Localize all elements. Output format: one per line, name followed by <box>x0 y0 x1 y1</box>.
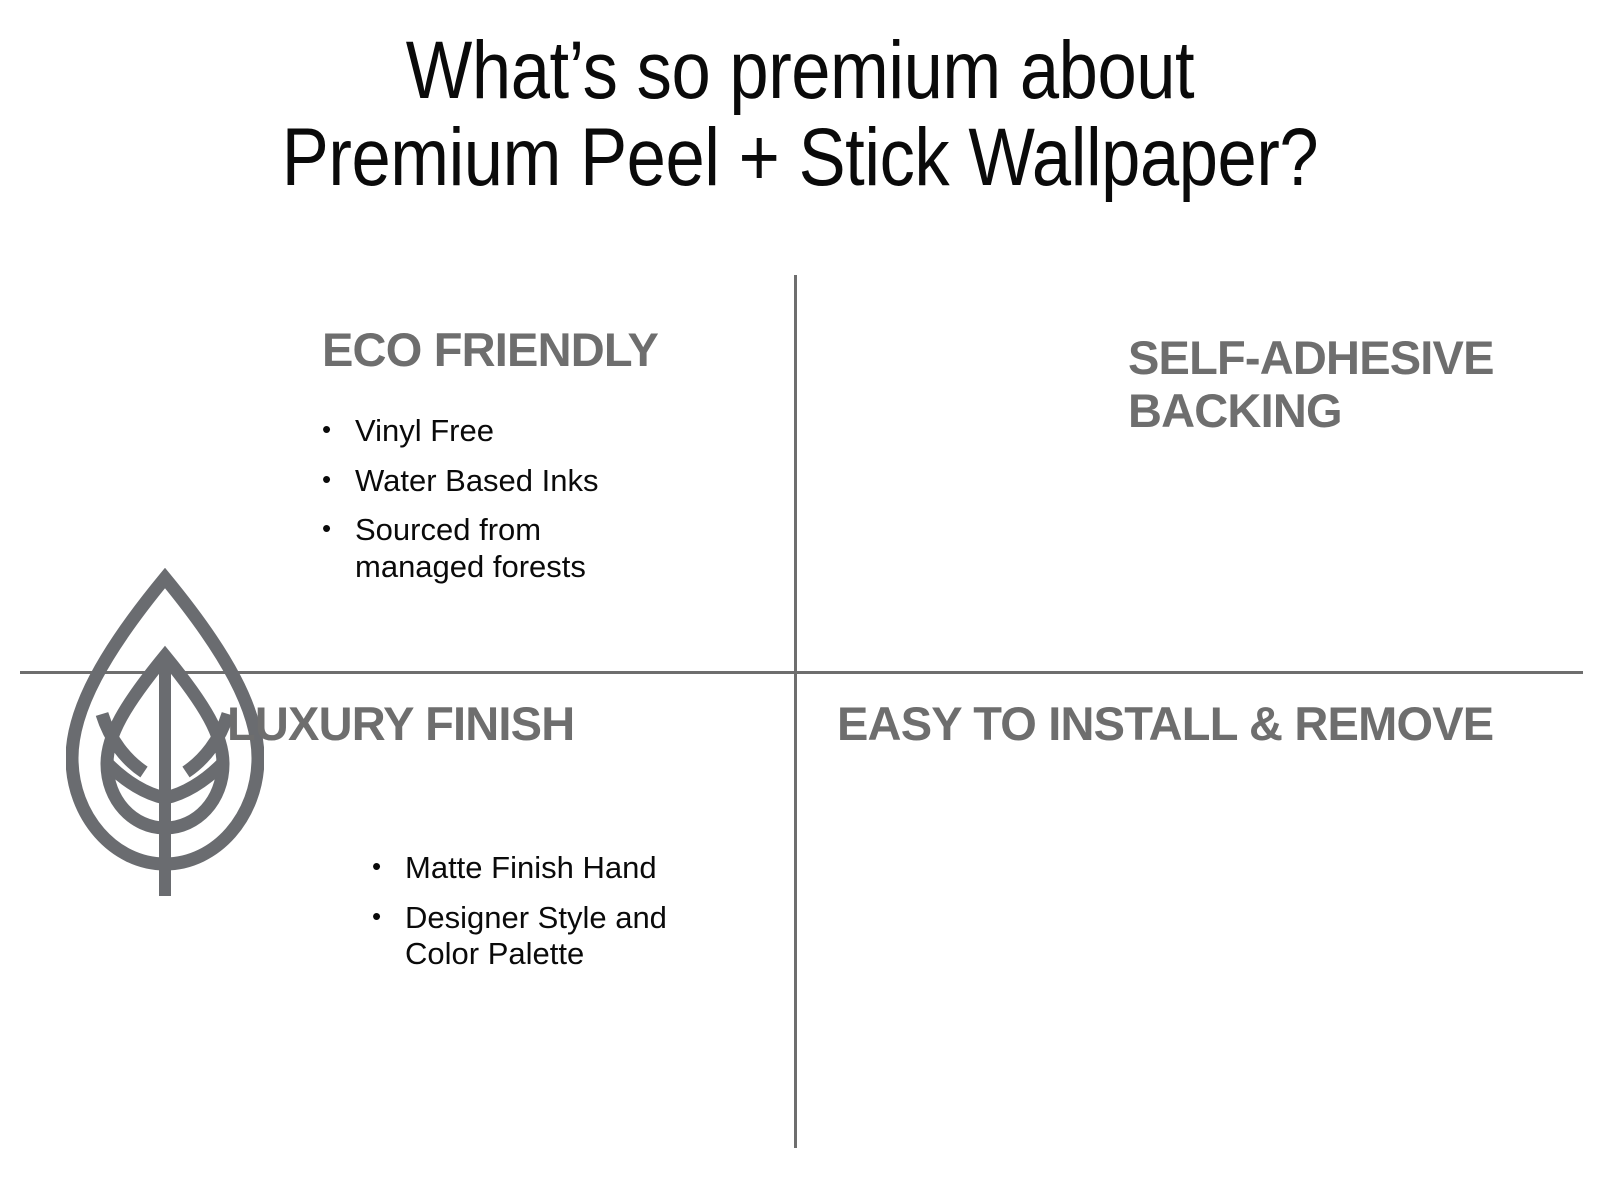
infographic-canvas: What’s so premium about Premium Peel + S… <box>0 0 1600 1200</box>
list-item: Matte Finish Hand <box>372 850 772 887</box>
quadrant-easy-to-install-and-remove: EASY TO INSTALL & REMOVE 100% Reposition… <box>797 674 1600 1148</box>
list-item: Water Based Inks <box>322 463 722 500</box>
quadrant-eco-friendly: ECO FRIENDLY Vinyl Free Water Based Inks… <box>0 275 794 671</box>
page-title: What’s so premium about Premium Peel + S… <box>112 28 1488 202</box>
heading-eco-friendly: ECO FRIENDLY <box>322 324 658 377</box>
list-item: Designer Style and Color Palette <box>372 900 772 973</box>
quadrant-self-adhesive-backing: SELF-ADHESIVE BACKING No Paste No Water <box>797 275 1600 671</box>
heading-easy-to-install-and-remove: EASY TO INSTALL & REMOVE <box>837 698 1493 751</box>
heading-self-adhesive-backing: SELF-ADHESIVE BACKING <box>1128 332 1494 437</box>
list-item: Sourced from managed forests <box>322 512 722 585</box>
heading-luxury-finish: LUXURY FINISH <box>227 698 574 751</box>
quadrant-luxury-finish: LUXURY FINISH Matte Finish Hand Designer… <box>0 674 794 1148</box>
bullet-list-eco-friendly: Vinyl Free Water Based Inks Sourced from… <box>322 413 722 598</box>
bullet-list-luxury-finish: Matte Finish Hand Designer Style and Col… <box>372 850 772 986</box>
list-item: Vinyl Free <box>322 413 722 450</box>
